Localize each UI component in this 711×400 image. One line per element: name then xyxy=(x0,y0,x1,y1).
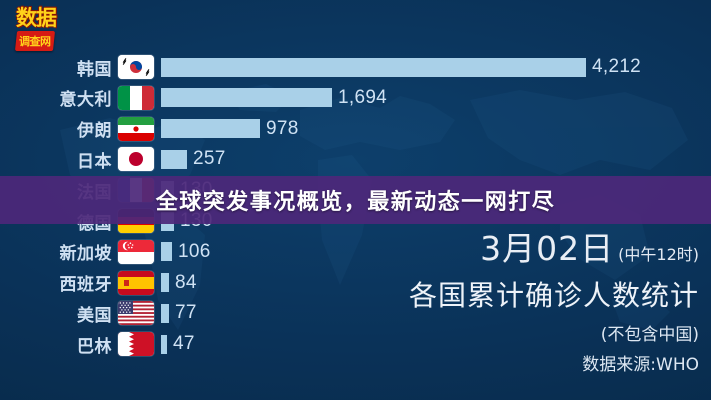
bar-group: 978 xyxy=(161,118,299,140)
flag-icon-bahrain xyxy=(118,332,154,356)
bar xyxy=(161,242,172,261)
logo-title: 数据 xyxy=(16,8,72,29)
flag-icon-iran xyxy=(118,117,154,141)
bar-group: 1,694 xyxy=(161,87,387,109)
site-logo[interactable]: 数据 调查网 xyxy=(16,8,72,54)
bar-value-label: 978 xyxy=(266,118,299,140)
table-row: 伊朗978 xyxy=(0,116,299,142)
info-panel: 3月02日 (中午12时) 各国累计确诊人数统计 (不包含中国) 数据来源:WH… xyxy=(409,222,699,375)
flag-icon-spain xyxy=(118,271,154,295)
country-label: 西班牙 xyxy=(0,270,118,295)
country-label: 巴林 xyxy=(0,332,118,357)
date-note: (中午12时) xyxy=(618,241,699,265)
date-line: 3月02日 (中午12时) xyxy=(409,222,699,270)
table-row: 韩国4,212 xyxy=(0,54,641,80)
bar-value-label: 77 xyxy=(175,302,197,324)
table-row: 西班牙84 xyxy=(0,270,197,296)
overlay-banner-text: 全球突发事况概览，最新动态一网打尽 xyxy=(156,184,556,216)
bar-group: 106 xyxy=(161,241,211,263)
country-label: 新加坡 xyxy=(0,239,118,264)
chart-subnote: (不包含中国) xyxy=(409,320,699,345)
screenshot-root: 数据 调查网 韩国4,212意大利1,694伊朗978日本257法国130德国1… xyxy=(0,0,711,400)
flag-icon-singapore xyxy=(118,240,154,264)
date-main: 3月02日 xyxy=(480,222,614,270)
bar-value-label: 84 xyxy=(175,272,197,294)
bar-value-label: 4,212 xyxy=(592,56,641,78)
bar xyxy=(161,119,260,138)
table-row: 意大利1,694 xyxy=(0,85,387,111)
bar xyxy=(161,273,169,292)
data-source: 数据来源:WHO xyxy=(409,350,699,375)
bar-group: 257 xyxy=(161,148,226,170)
country-label: 意大利 xyxy=(0,85,118,110)
bar-group: 77 xyxy=(161,302,197,324)
bar xyxy=(161,304,169,323)
table-row: 新加坡106 xyxy=(0,239,211,265)
bar-value-label: 106 xyxy=(178,241,211,263)
table-row: 日本257 xyxy=(0,146,226,172)
bar-value-label: 257 xyxy=(193,148,226,170)
country-label: 伊朗 xyxy=(0,116,118,141)
country-label: 美国 xyxy=(0,301,118,326)
bar-value-label: 47 xyxy=(173,333,195,355)
bar xyxy=(161,88,332,107)
country-label: 日本 xyxy=(0,147,118,172)
bar xyxy=(161,150,187,169)
country-label: 韩国 xyxy=(0,55,118,80)
bar-group: 4,212 xyxy=(161,56,641,78)
bar-group: 47 xyxy=(161,333,195,355)
bar-value-label: 1,694 xyxy=(338,87,387,109)
table-row: 巴林47 xyxy=(0,331,195,357)
bar xyxy=(161,335,167,354)
table-row: 美国77 xyxy=(0,300,197,326)
chart-headline: 各国累计确诊人数统计 xyxy=(409,274,699,314)
bar-group: 84 xyxy=(161,272,197,294)
flag-icon-united-states xyxy=(118,301,154,325)
logo-subtitle-banner: 调查网 xyxy=(15,31,55,51)
flag-icon-japan xyxy=(118,147,154,171)
overlay-banner: 全球突发事况概览，最新动态一网打尽 xyxy=(0,176,711,224)
bar xyxy=(161,58,586,77)
logo-subtitle: 调查网 xyxy=(19,33,51,49)
flag-icon-south-korea xyxy=(118,55,154,79)
flag-icon-italy xyxy=(118,86,154,110)
